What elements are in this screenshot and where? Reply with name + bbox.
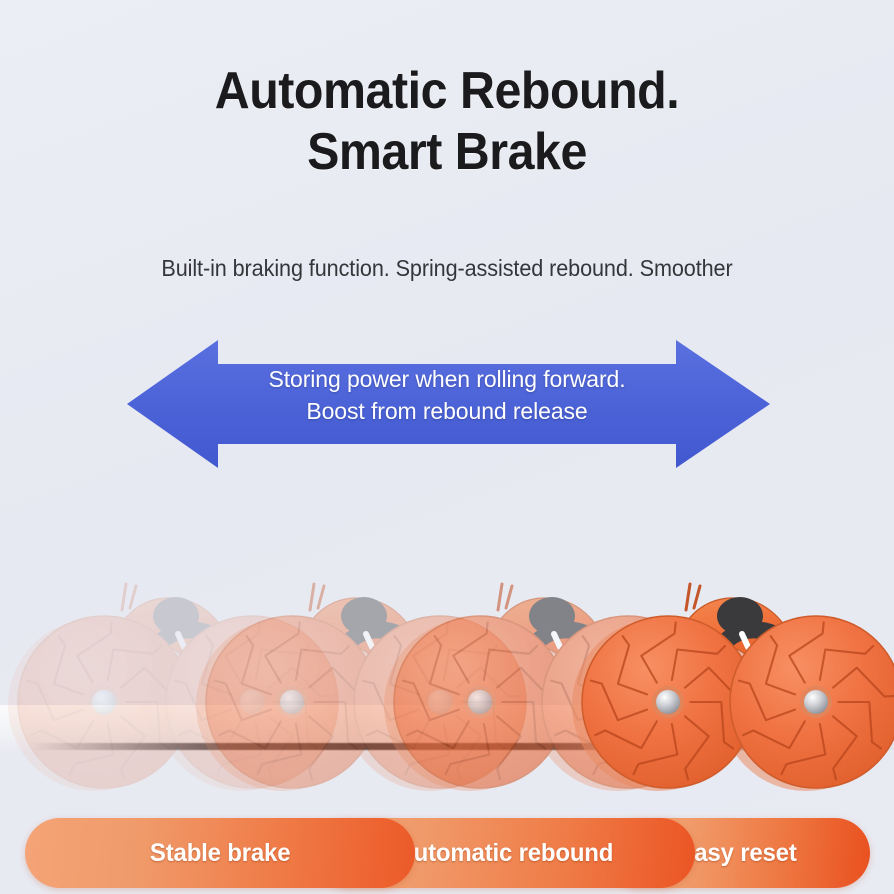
product-feature-poster: Automatic Rebound. Smart Brake Built-in … — [0, 0, 894, 894]
badge-automatic-rebound-label: Automatic rebound — [397, 839, 614, 868]
headline-line-1: Automatic Rebound. — [215, 62, 679, 120]
badge-easy-reset-label: Easy reset — [678, 839, 796, 868]
headline-line-2: Smart Brake — [31, 122, 862, 183]
subheadline: Built-in braking function. Spring-assist… — [27, 255, 867, 282]
feature-badge-row: Stable brake Automatic rebound Easy rese… — [0, 812, 894, 894]
double-arrow-icon — [0, 336, 894, 476]
badge-stable-brake-label: Stable brake — [150, 839, 290, 868]
badge-stable-brake[interactable]: Stable brake — [25, 818, 415, 888]
product-stage — [0, 500, 894, 800]
roller-frame-4 — [564, 530, 894, 800]
page-title: Automatic Rebound. Smart Brake — [31, 61, 862, 184]
arrow-banner: Storing power when rolling forward. Boos… — [0, 336, 894, 476]
